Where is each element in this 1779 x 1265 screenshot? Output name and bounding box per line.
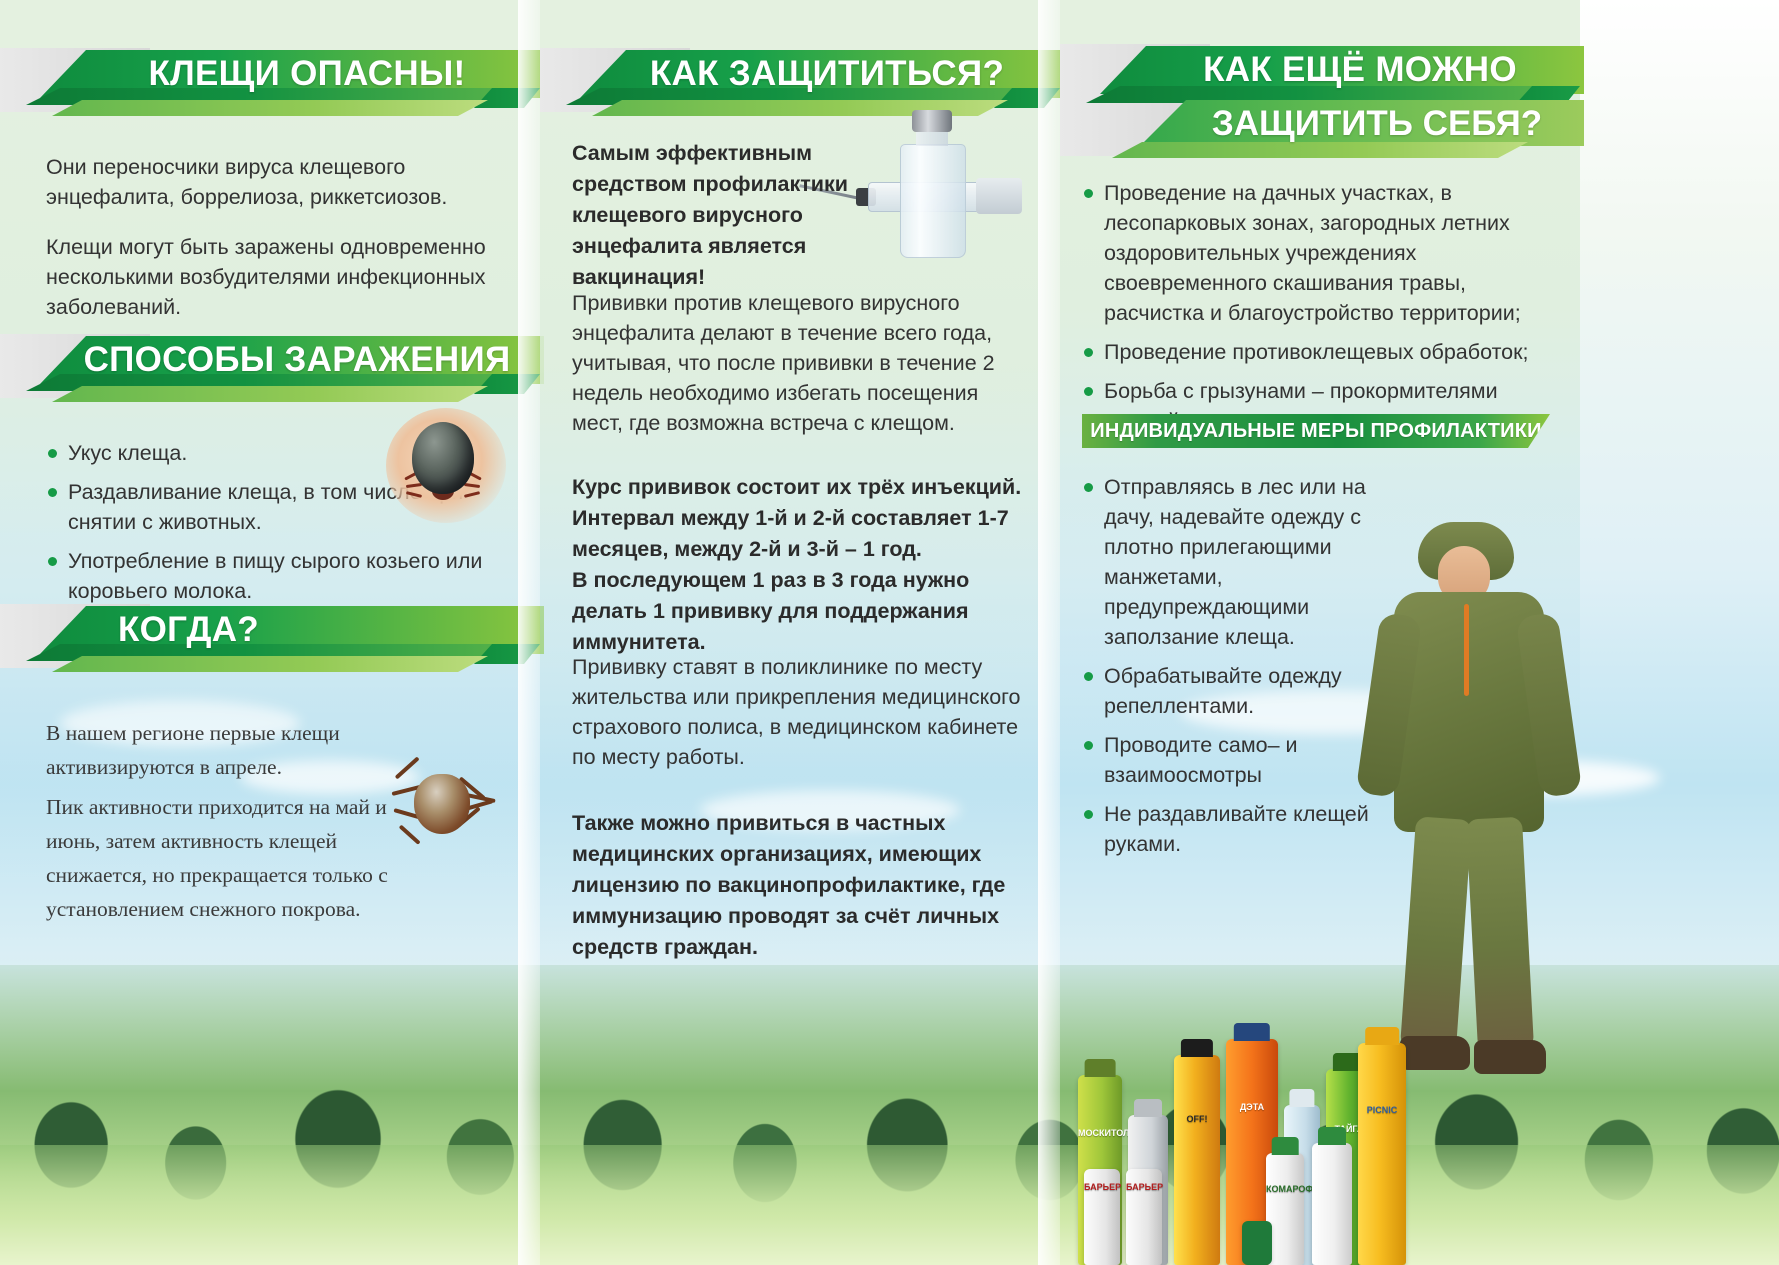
repellent-cap-item	[1242, 1221, 1272, 1265]
list-item: Отправляясь в лес или на дачу, надевайте…	[1082, 472, 1382, 652]
ribbon-band-light	[52, 656, 488, 672]
heading-ribbon-sposoby-zarazheniya: СПОСОБЫ ЗАРАЖЕНИЯ	[0, 330, 540, 404]
panel-left: КЛЕЩИ ОПАСНЫ! Они переносчики вируса кле…	[0, 0, 540, 1265]
tick-photo	[378, 740, 508, 865]
can-label: PICNIC	[1358, 1105, 1406, 1116]
panel-middle: КАК ЗАЩИТИТЬСЯ? Самым эффективным средст…	[540, 0, 1060, 1265]
heading-ribbon-kleshchi-opasny: КЛЕЩИ ОПАСНЫ!	[0, 44, 540, 118]
paragraph: Самым эффективным средством профилактики…	[572, 138, 894, 293]
paragraph: Интервал между 1-й и 2-й составляет 1-7 …	[572, 503, 1024, 565]
right-leg	[1466, 817, 1534, 1052]
section-heading: КОГДА?	[0, 608, 524, 652]
left-leg	[1400, 816, 1472, 1051]
can-cap	[1318, 1127, 1346, 1145]
section-kak-zashchititsya: КАК ЗАЩИТИТЬСЯ?	[540, 44, 1060, 118]
list-item: Не раздавливайте клещей руками.	[1082, 799, 1382, 859]
vial-neck	[916, 130, 948, 146]
can-cap	[1272, 1137, 1299, 1155]
strip-heading-label: ИНДИВИДУАЛЬНЫЕ МЕРЫ ПРОФИЛАКТИКИ	[1090, 420, 1541, 443]
can-cap	[1289, 1089, 1314, 1107]
section-heading: КЛЕЩИ ОПАСНЫ!	[0, 52, 524, 96]
left-boot	[1400, 1036, 1470, 1070]
vial-cap	[912, 110, 952, 132]
ribbon-band-light	[52, 100, 488, 116]
tick-body	[412, 422, 474, 494]
where-to-vaccinate-paragraph: Прививку ставят в поликлинике по месту ж…	[572, 652, 1024, 792]
private-clinics-paragraph: Также можно привиться в частных медицинс…	[572, 808, 1032, 983]
ribbon-band-light	[52, 386, 488, 402]
section-heading: КАК ЗАЩИТИТЬСЯ?	[540, 52, 1044, 96]
vaccination-intro: Самым эффективным средством профилактики…	[572, 138, 894, 313]
right-boot	[1474, 1040, 1546, 1074]
list-item: Проведение на дачных участках, в лесопар…	[1082, 178, 1544, 328]
section-heading-line-2: ЗАЩИТИТЬ СЕБЯ?	[1060, 102, 1564, 146]
vaccination-course-block: Курс прививок состоит их трёх инъекций. …	[572, 472, 1024, 658]
list-item: Употребление в пищу сырого козьего или к…	[46, 546, 494, 606]
section-kleshchi-opasny: КЛЕЩИ ОПАСНЫ! Они переносчики вируса кле…	[0, 44, 540, 342]
repellent-spray-cans-photo: МОСКИТОЛ OFF! ДЭТА ТАЙГА БАРЬЕР БАРЬЕР К…	[1070, 1025, 1410, 1265]
list-item: Проводите само– и взаимоосмотры	[1082, 730, 1382, 790]
section-kogda: КОГДА? В нашем регионе первые клещи акти…	[0, 600, 540, 946]
section-heading: СПОСОБЫ ЗАРАЖЕНИЯ	[0, 338, 524, 382]
area-measures-list: Проведение на дачных участках, в лесопар…	[1082, 178, 1544, 445]
heading-ribbon-kak-zashchititsya: КАК ЗАЩИТИТЬСЯ?	[540, 44, 1060, 118]
paragraph: Также можно привиться в частных медицинс…	[572, 808, 1032, 963]
section-heading-line-1: КАК ЕЩЁ МОЖНО	[1060, 48, 1564, 92]
paragraph: Прививку ставят в поликлинике по месту ж…	[572, 652, 1024, 772]
heading-ribbon-kogda: КОГДА?	[0, 600, 540, 674]
vaccine-vial-photo	[892, 110, 972, 260]
can-label: МОСКИТОЛ	[1078, 1128, 1122, 1139]
section-kak-eshche-mozhno: КАК ЕЩЁ МОЖНО ЗАЩИТИТЬ СЕБЯ?	[1060, 40, 1580, 168]
paragraph: Клещи могут быть заражены одновременно н…	[46, 232, 494, 322]
tube-label: БАРЬЕР	[1126, 1182, 1162, 1193]
repellent-tube: БАРЬЕР	[1084, 1169, 1120, 1265]
can-cap	[1134, 1099, 1162, 1117]
can-cap	[1181, 1039, 1213, 1057]
repellent-can: OFF!	[1174, 1055, 1220, 1265]
can-cap	[1365, 1027, 1399, 1045]
tick-body	[414, 774, 470, 834]
paragraph: Курс прививок состоит их трёх инъекций.	[572, 472, 1024, 503]
vial-glass	[900, 144, 966, 258]
paragraph: Пик активности приходится на май и июнь,…	[46, 790, 414, 926]
heading-ribbon-kak-eshche-mozhno: КАК ЕЩЁ МОЖНО ЗАЩИТИТЬ СЕБЯ?	[1060, 40, 1580, 168]
repellent-can	[1312, 1143, 1352, 1265]
list-item: Обрабатывайте одежду репеллентами.	[1082, 661, 1382, 721]
section-body: Они переносчики вируса клещевого энцефал…	[0, 152, 540, 322]
paragraph: В последующем 1 раз в 3 года нужно делат…	[572, 565, 1024, 658]
can-label: ДЭТА	[1226, 1102, 1278, 1113]
repellent-can: PICNIC	[1358, 1043, 1406, 1265]
can-label: OFF!	[1174, 1114, 1220, 1125]
can-label: КОМАРОФФ	[1266, 1184, 1304, 1195]
paragraph: Прививки против клещевого вирусного энце…	[572, 288, 1024, 438]
syringe-plunger	[976, 178, 1022, 214]
panel-right: КАК ЕЩЁ МОЖНО ЗАЩИТИТЬ СЕБЯ? Проведение …	[1060, 0, 1779, 1265]
tube-label: БАРЬЕР	[1084, 1182, 1120, 1193]
section-sposoby-zarazheniya: СПОСОБЫ ЗАРАЖЕНИЯ Укус клеща. Раздавлива…	[0, 330, 540, 615]
can-cap	[1085, 1059, 1116, 1077]
list-item: Проведение противоклещевых обработок;	[1082, 337, 1544, 367]
vaccination-schedule-paragraph: Прививки против клещевого вирусного энце…	[572, 288, 1024, 458]
individual-measures-list: Отправляясь в лес или на дачу, надевайте…	[1082, 472, 1382, 868]
paragraph: В нашем регионе первые клещи активизирую…	[46, 716, 414, 784]
paragraph: Они переносчики вируса клещевого энцефал…	[46, 152, 494, 212]
jacket-zipper	[1464, 604, 1469, 696]
tick-on-skin-photo	[386, 408, 506, 523]
strip-heading-individual-measures: ИНДИВИДУАЛЬНЫЕ МЕРЫ ПРОФИЛАКТИКИ	[1082, 414, 1550, 448]
can-cap	[1234, 1023, 1270, 1041]
repellent-tube: БАРЬЕР	[1126, 1169, 1162, 1265]
